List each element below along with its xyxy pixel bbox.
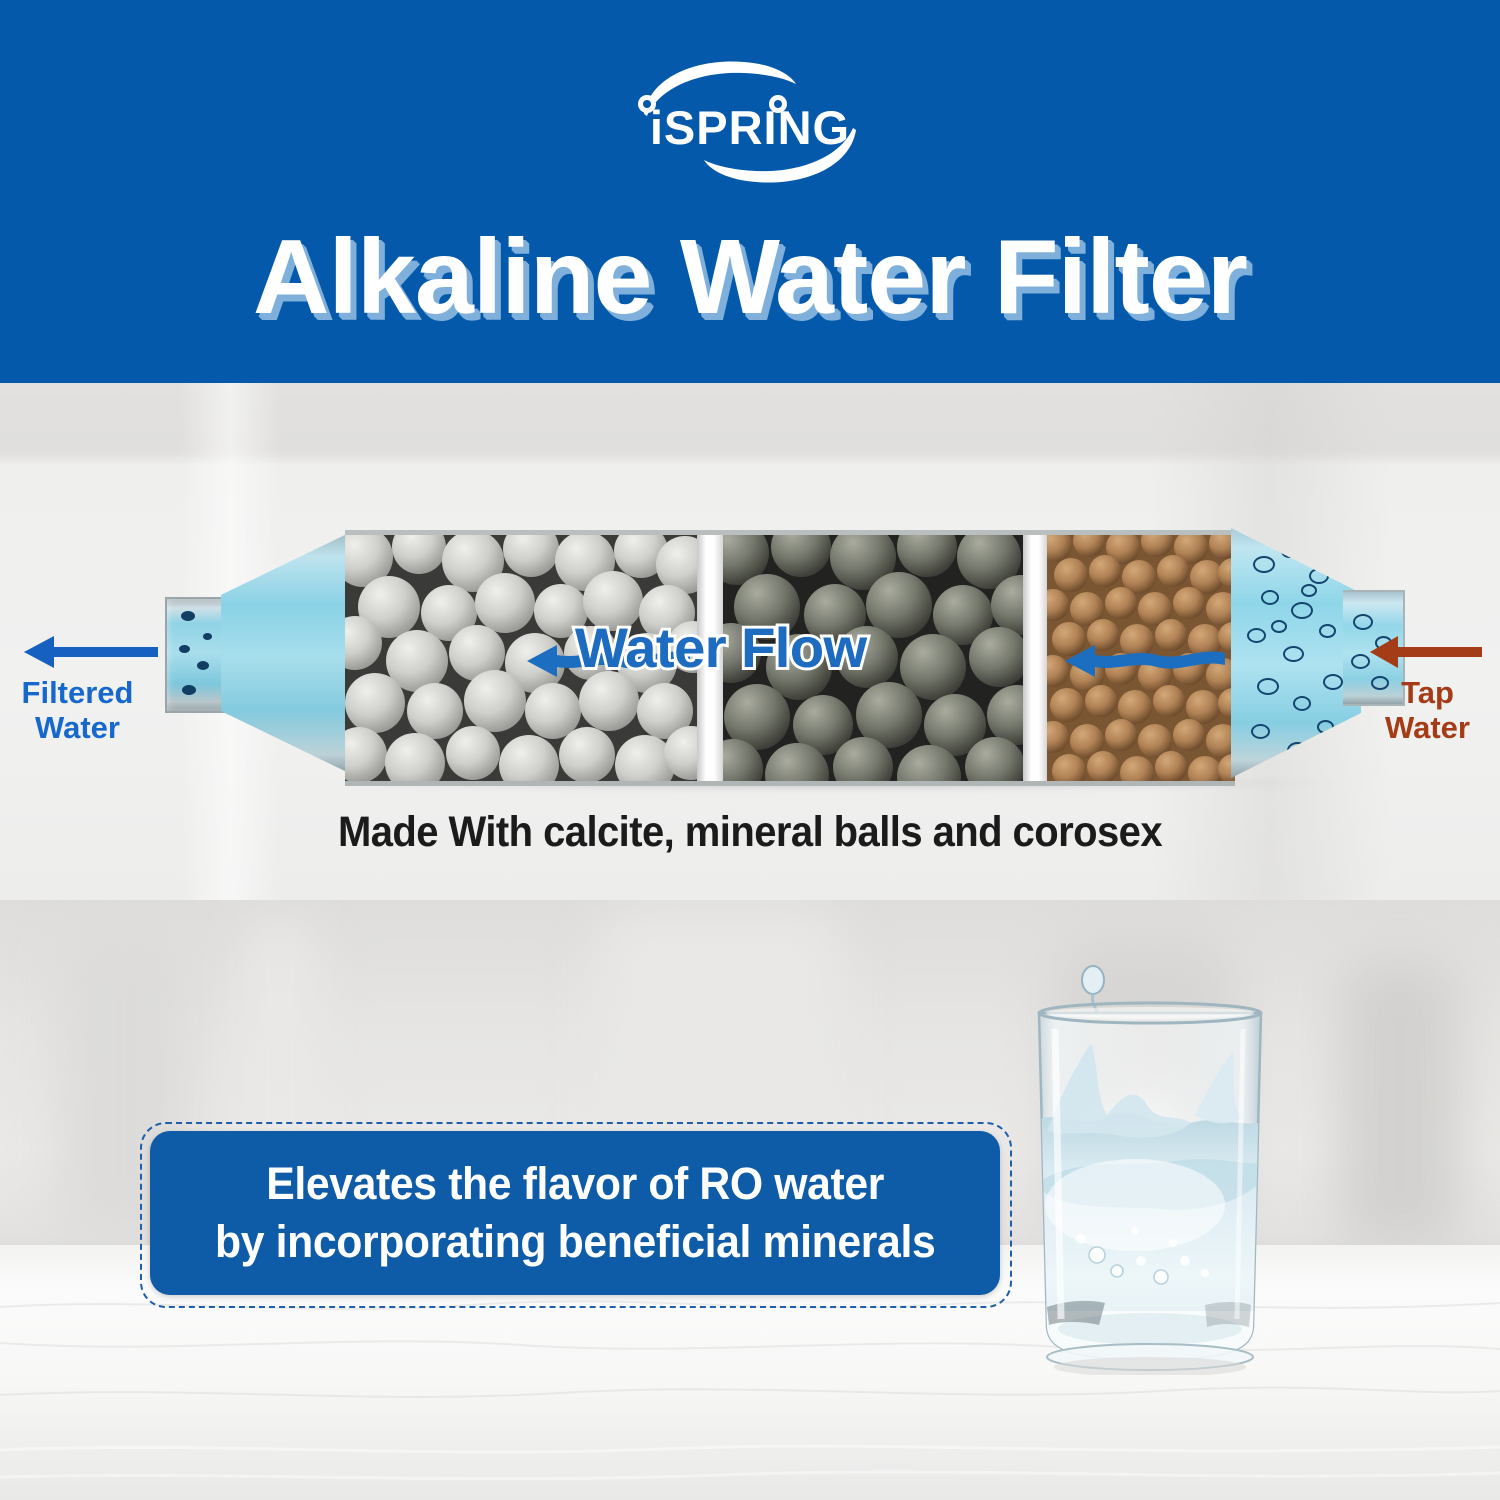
tap-water-label: Tap Water [1355,676,1500,745]
tap-water-label-line2: Water [1385,710,1470,745]
benefit-callout-text: Elevates the flavor of RO water by incor… [215,1155,935,1270]
infographic-page: iSPRING Alkaline Water Filter [0,0,1500,1500]
benefit-line-1: Elevates the flavor of RO water [266,1158,884,1209]
materials-caption: Made With calcite, mineral balls and cor… [53,808,1448,857]
filtered-water-label-line1: Filtered [22,675,134,710]
ispring-logo: iSPRING [0,52,1500,202]
tap-water-arrow-icon [1366,630,1486,674]
filtered-water-arrow-icon [18,630,163,674]
water-droplet [1082,966,1104,994]
water-glass-svg [995,955,1305,1375]
svg-text:iSPRING: iSPRING [650,101,850,154]
page-title: Alkaline Water Filter [0,222,1500,333]
filtered-water-label-line2: Water [35,710,120,745]
left-outlet-nozzle [165,597,229,713]
tap-water-label-line1: Tap [1401,675,1454,710]
left-end-cap [221,532,351,774]
water-glass-image [995,955,1305,1375]
corosex-balls [1047,535,1235,781]
ispring-logo-svg: iSPRING [620,52,880,192]
filtered-water-label: Filtered Water [0,676,155,745]
water-flow-label: Water Flow [575,615,867,680]
benefit-line-2: by incorporating beneficial minerals [215,1216,935,1267]
header-banner: iSPRING Alkaline Water Filter [0,0,1500,383]
benefit-callout: Elevates the flavor of RO water by incor… [150,1131,1000,1295]
background-bokeh-2 [1340,960,1460,1250]
media-chamber-corosex [1047,535,1235,781]
right-end-cap [1231,528,1361,778]
chamber-divider-2 [1023,535,1047,781]
